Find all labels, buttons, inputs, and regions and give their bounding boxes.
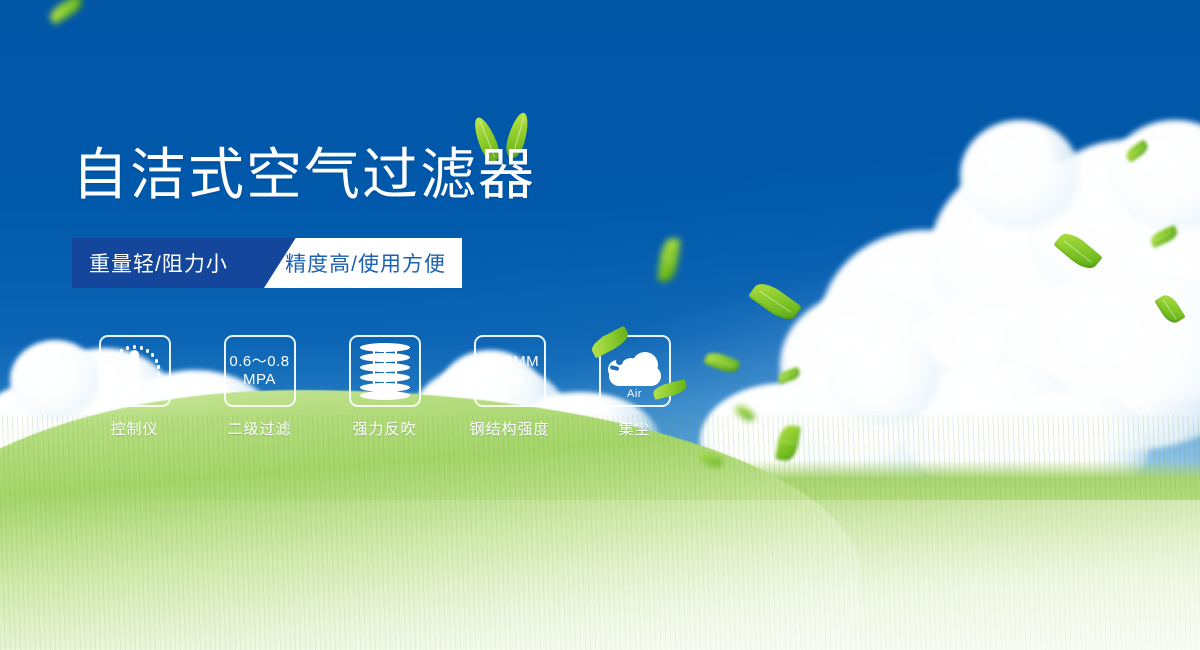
- pressure-range-line1: 0.6〜0.8: [229, 353, 289, 371]
- feature-box-two-stage-filtration: 0.6〜0.8 MPA: [224, 335, 296, 407]
- feature-label-strong-backflush: 强力反吹: [352, 418, 416, 439]
- subtitle-right-text: 精度高/使用方便: [285, 248, 462, 278]
- subtitle-left-text: 重量轻/阻力小: [72, 248, 228, 278]
- subtitle-right-segment: 精度高/使用方便: [264, 238, 462, 288]
- feature-label-two-stage-filtration: 二级过滤: [227, 418, 291, 439]
- filter-stack-icon: [360, 343, 410, 399]
- gauge-off-label: OFF: [153, 381, 167, 391]
- gauge-needle-icon: [130, 350, 139, 392]
- gauge-icon: NO OFF: [104, 343, 166, 399]
- feature-item-strong-backflush[interactable]: 强力反吹: [322, 335, 447, 439]
- feature-item-dust-collection[interactable]: Air 集尘: [572, 335, 697, 439]
- product-banner: 自洁式空气过滤器 重量轻/阻力小 精度高/使用方便: [0, 0, 1200, 650]
- steel-thickness-line2: 钢板: [494, 371, 525, 389]
- feature-box-dust-collection: Air: [599, 335, 671, 407]
- pressure-range-line2: MPA: [243, 371, 276, 389]
- feature-label-control-instrument: 控制仪: [110, 418, 158, 439]
- grass-foreground-sheen: [0, 500, 1200, 650]
- feature-item-two-stage-filtration[interactable]: 0.6〜0.8 MPA 二级过滤: [197, 335, 322, 439]
- feature-item-steel-structure-strength[interactable]: 3〜8MM 钢板 钢结构强度: [447, 335, 572, 439]
- feature-label-steel-structure-strength: 钢结构强度: [469, 418, 549, 439]
- feature-item-control-instrument[interactable]: NO OFF 控制仪: [72, 335, 197, 439]
- feature-box-strong-backflush: [349, 335, 421, 407]
- feature-box-control-instrument: NO OFF: [99, 335, 171, 407]
- steel-thickness-line1: 3〜8MM: [480, 353, 539, 371]
- page-title: 自洁式空气过滤器: [72, 143, 536, 207]
- feature-box-steel-structure-strength: 3〜8MM 钢板: [474, 335, 546, 407]
- gauge-no-label: NO: [103, 365, 113, 371]
- feature-list: NO OFF 控制仪 0.6〜0.8 MPA 二级过滤: [72, 335, 697, 439]
- feature-label-dust-collection: 集尘: [618, 418, 650, 439]
- subtitle-bar: 重量轻/阻力小 精度高/使用方便: [72, 238, 462, 288]
